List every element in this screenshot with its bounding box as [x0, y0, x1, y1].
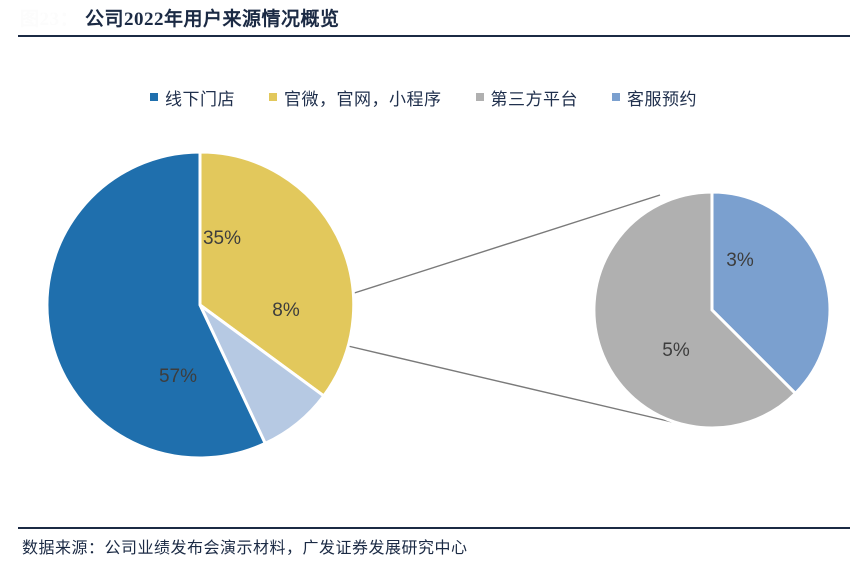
footer-divider [18, 527, 850, 529]
legend-swatch-icon [612, 93, 620, 101]
legend-item-offline-store[interactable]: 线下门店 [150, 85, 235, 110]
legend-swatch-icon [269, 93, 277, 101]
legend-item-label: 线下门店 [165, 85, 235, 110]
legend-item-customer-service[interactable]: 客服预约 [612, 85, 697, 110]
pie-label-third-party: 5% [662, 340, 690, 361]
secondary-pie: 3% 5% [594, 192, 830, 428]
figure-title-bar: 图23： 公司2022年用户来源情况概览 [0, 0, 866, 34]
primary-pie: 35% 8% 57% [47, 152, 354, 458]
legend-item-label: 客服预约 [627, 85, 697, 110]
pie-label-official-channels: 35% [203, 228, 241, 249]
legend-item-label: 官微，官网，小程序 [284, 85, 442, 110]
title-divider [18, 35, 850, 37]
figure-number: 图23： [20, 4, 79, 31]
pie-label-offline-store: 57% [159, 366, 197, 387]
legend-item-label: 第三方平台 [491, 85, 579, 110]
legend-item-third-party[interactable]: 第三方平台 [476, 85, 579, 110]
source-note: 数据来源：公司业绩发布会演示材料，广发证券发展研究中心 [22, 534, 468, 558]
legend-item-official-channels[interactable]: 官微，官网，小程序 [269, 85, 442, 110]
pie-label-other-group: 8% [272, 300, 300, 321]
page-title: 公司2022年用户来源情况概览 [85, 4, 340, 31]
chart-legend: 线下门店 官微，官网，小程序 第三方平台 客服预约 [150, 84, 730, 110]
legend-swatch-icon [476, 93, 484, 101]
legend-swatch-icon [150, 93, 158, 101]
pie-label-customer-service: 3% [726, 250, 754, 271]
pie-of-pie-chart: 35% 8% 57% 3% 5% [0, 110, 866, 510]
